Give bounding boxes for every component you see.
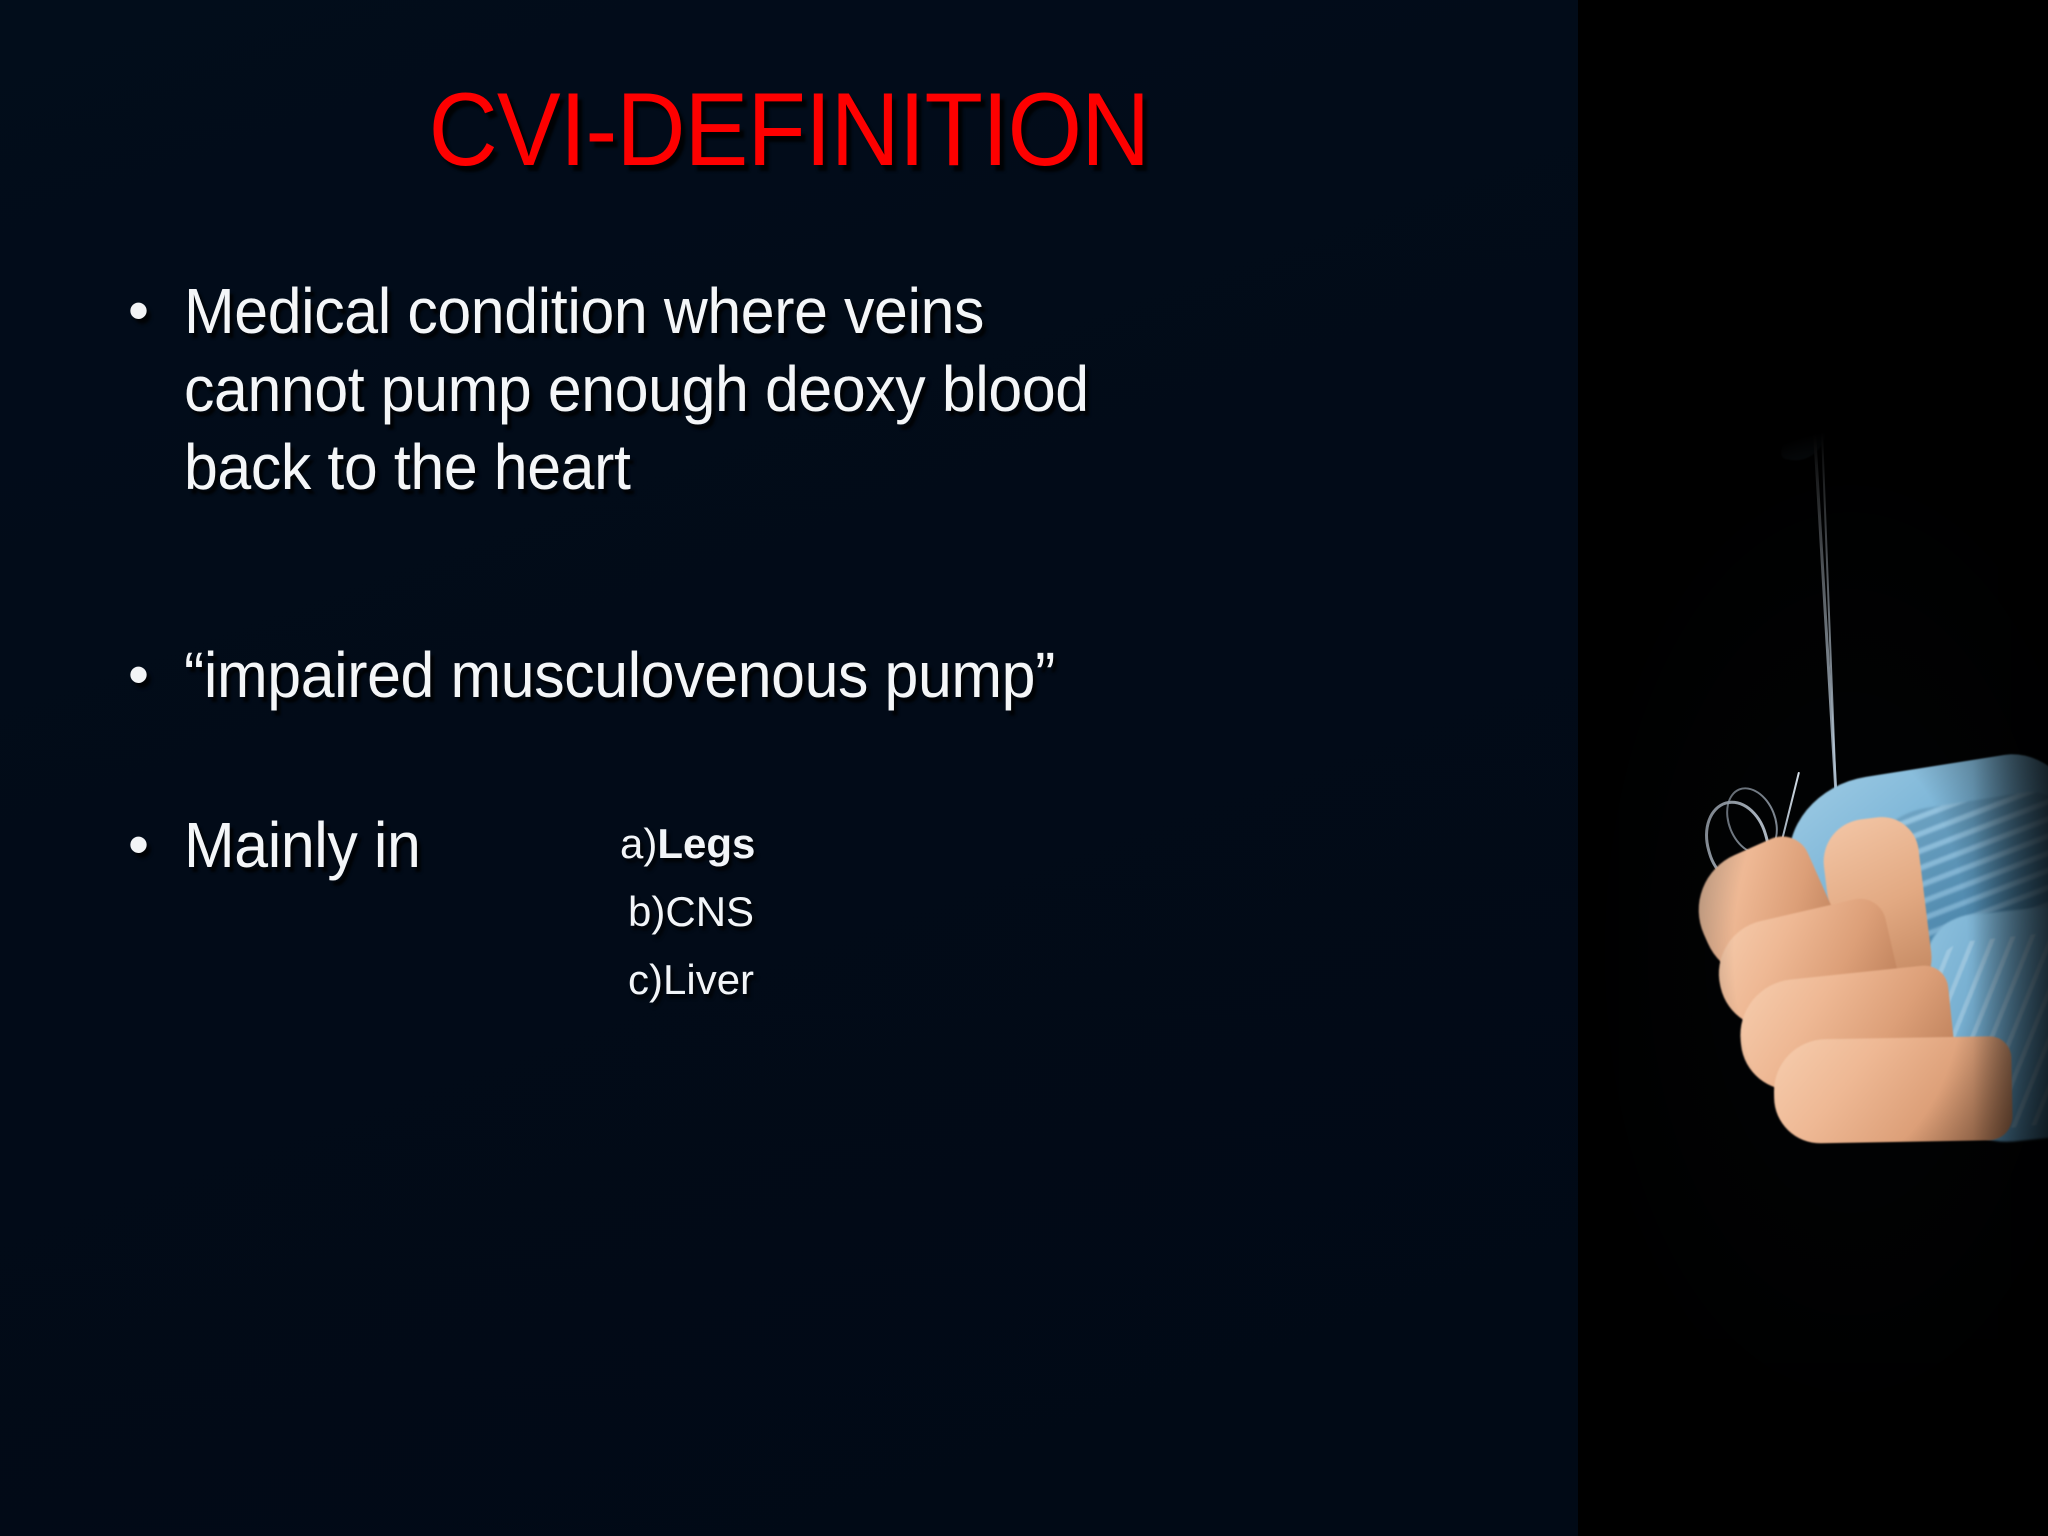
list-item-text: Medical condition where veins cannot pum… — [184, 272, 1115, 506]
sublist-item-b-value: CNS — [665, 888, 754, 935]
list-item-text: “impaired musculovenous pump” — [184, 636, 1055, 714]
finger — [1773, 1036, 2013, 1144]
page-title: CVI-DEFINITION — [63, 78, 1515, 182]
sublist-item-b: b)CNS — [620, 878, 755, 946]
list-item-text: Mainly in — [184, 806, 420, 884]
slide-canvas: CVI-DEFINITION • Medical condition where… — [0, 0, 2048, 1536]
list-item: • “impaired musculovenous pump” — [128, 636, 1528, 714]
photo-panel — [1578, 0, 2048, 1536]
bullet-dot-icon: • — [128, 272, 184, 350]
blue-braided-stent-icon — [1747, 255, 1844, 410]
content-panel: CVI-DEFINITION • Medical condition where… — [0, 0, 1578, 1536]
sublist-item-c: c)Liver — [620, 946, 755, 1014]
sublist-item-a-value: Legs — [657, 820, 755, 867]
sublist-item-a: a)Legs — [620, 810, 755, 878]
sublist-item-c-value: Liver — [663, 956, 754, 1003]
lettered-sublist: a)Legs b)CNS c)Liver — [620, 810, 755, 1014]
sublist-item-c-label: c) — [628, 956, 663, 1003]
bullet-dot-icon: • — [128, 636, 184, 714]
sublist-item-b-label: b) — [628, 888, 665, 935]
list-item: • Mainly in a)Legs b)CNS c)Liver — [128, 806, 1528, 884]
list-item: • Medical condition where veins cannot p… — [128, 272, 1528, 506]
gloved-hand-icon — [1682, 760, 2048, 1180]
bullet-dot-icon: • — [128, 806, 184, 884]
bullet-list: • Medical condition where veins cannot p… — [128, 272, 1528, 884]
stent-photo — [1578, 0, 2048, 1536]
sublist-item-a-label: a) — [620, 820, 657, 867]
